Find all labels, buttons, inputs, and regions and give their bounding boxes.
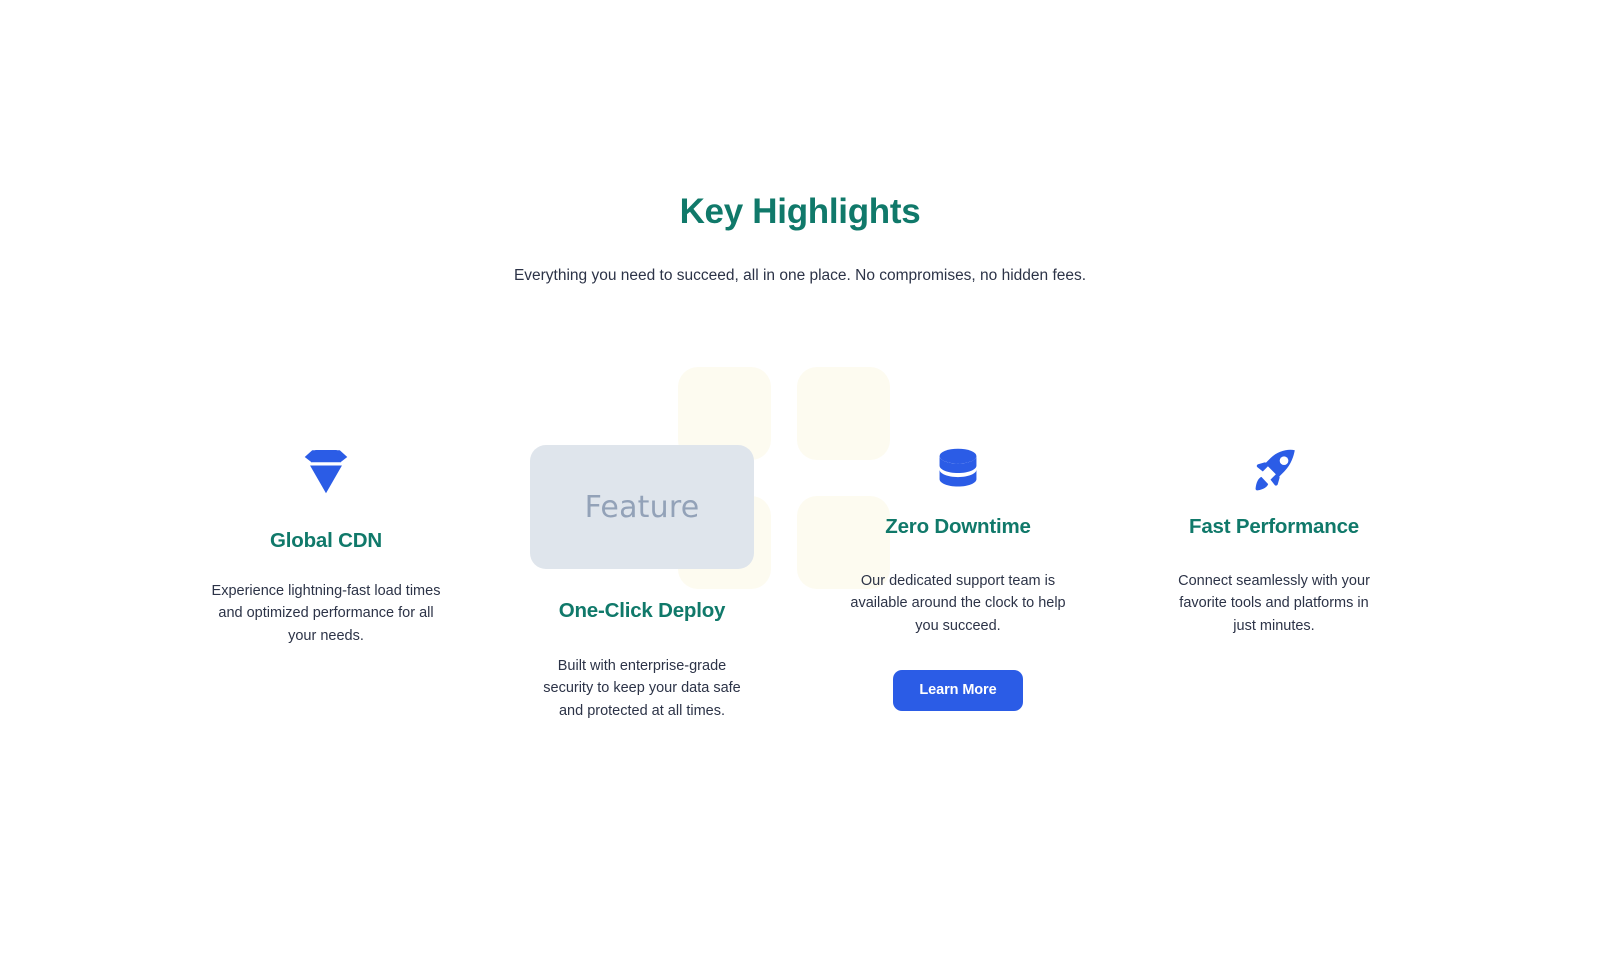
card-description: Our dedicated support team is available … xyxy=(845,570,1071,638)
feature-card-fast-performance: Fast Performance Connect seamlessly with… xyxy=(1116,360,1432,638)
card-title: Global CDN xyxy=(270,528,382,555)
card-media xyxy=(927,440,989,502)
database-icon xyxy=(927,440,989,502)
feature-image-placeholder: Feature xyxy=(530,445,754,569)
feature-card-global-cdn: Global CDN Experience lightning-fast loa… xyxy=(168,360,484,648)
diamond-icon xyxy=(295,440,357,502)
card-description: Connect seamlessly with your favorite to… xyxy=(1174,570,1374,638)
section-header: Key Highlights Everything you need to su… xyxy=(0,190,1600,287)
feature-card-zero-downtime: Zero Downtime Our dedicated support team… xyxy=(800,360,1116,711)
card-media xyxy=(295,440,357,502)
key-highlights-section: Key Highlights Everything you need to su… xyxy=(0,0,1600,978)
learn-more-button[interactable]: Learn More xyxy=(893,670,1022,712)
card-title: One-Click Deploy xyxy=(559,598,726,625)
card-description: Experience lightning-fast load times and… xyxy=(211,580,441,648)
card-title: Zero Downtime xyxy=(885,514,1030,541)
feature-card-one-click-deploy: Feature One-Click Deploy Built with ente… xyxy=(484,360,800,723)
card-media: Feature xyxy=(530,445,754,569)
rocket-icon xyxy=(1243,440,1305,502)
card-description: Built with enterprise-grade security to … xyxy=(535,655,749,723)
page-title: Key Highlights xyxy=(0,190,1600,234)
card-media xyxy=(1243,440,1305,502)
card-title: Fast Performance xyxy=(1189,514,1359,541)
section-subtitle: Everything you need to succeed, all in o… xyxy=(0,264,1600,287)
feature-cards-row: Global CDN Experience lightning-fast loa… xyxy=(168,360,1432,723)
